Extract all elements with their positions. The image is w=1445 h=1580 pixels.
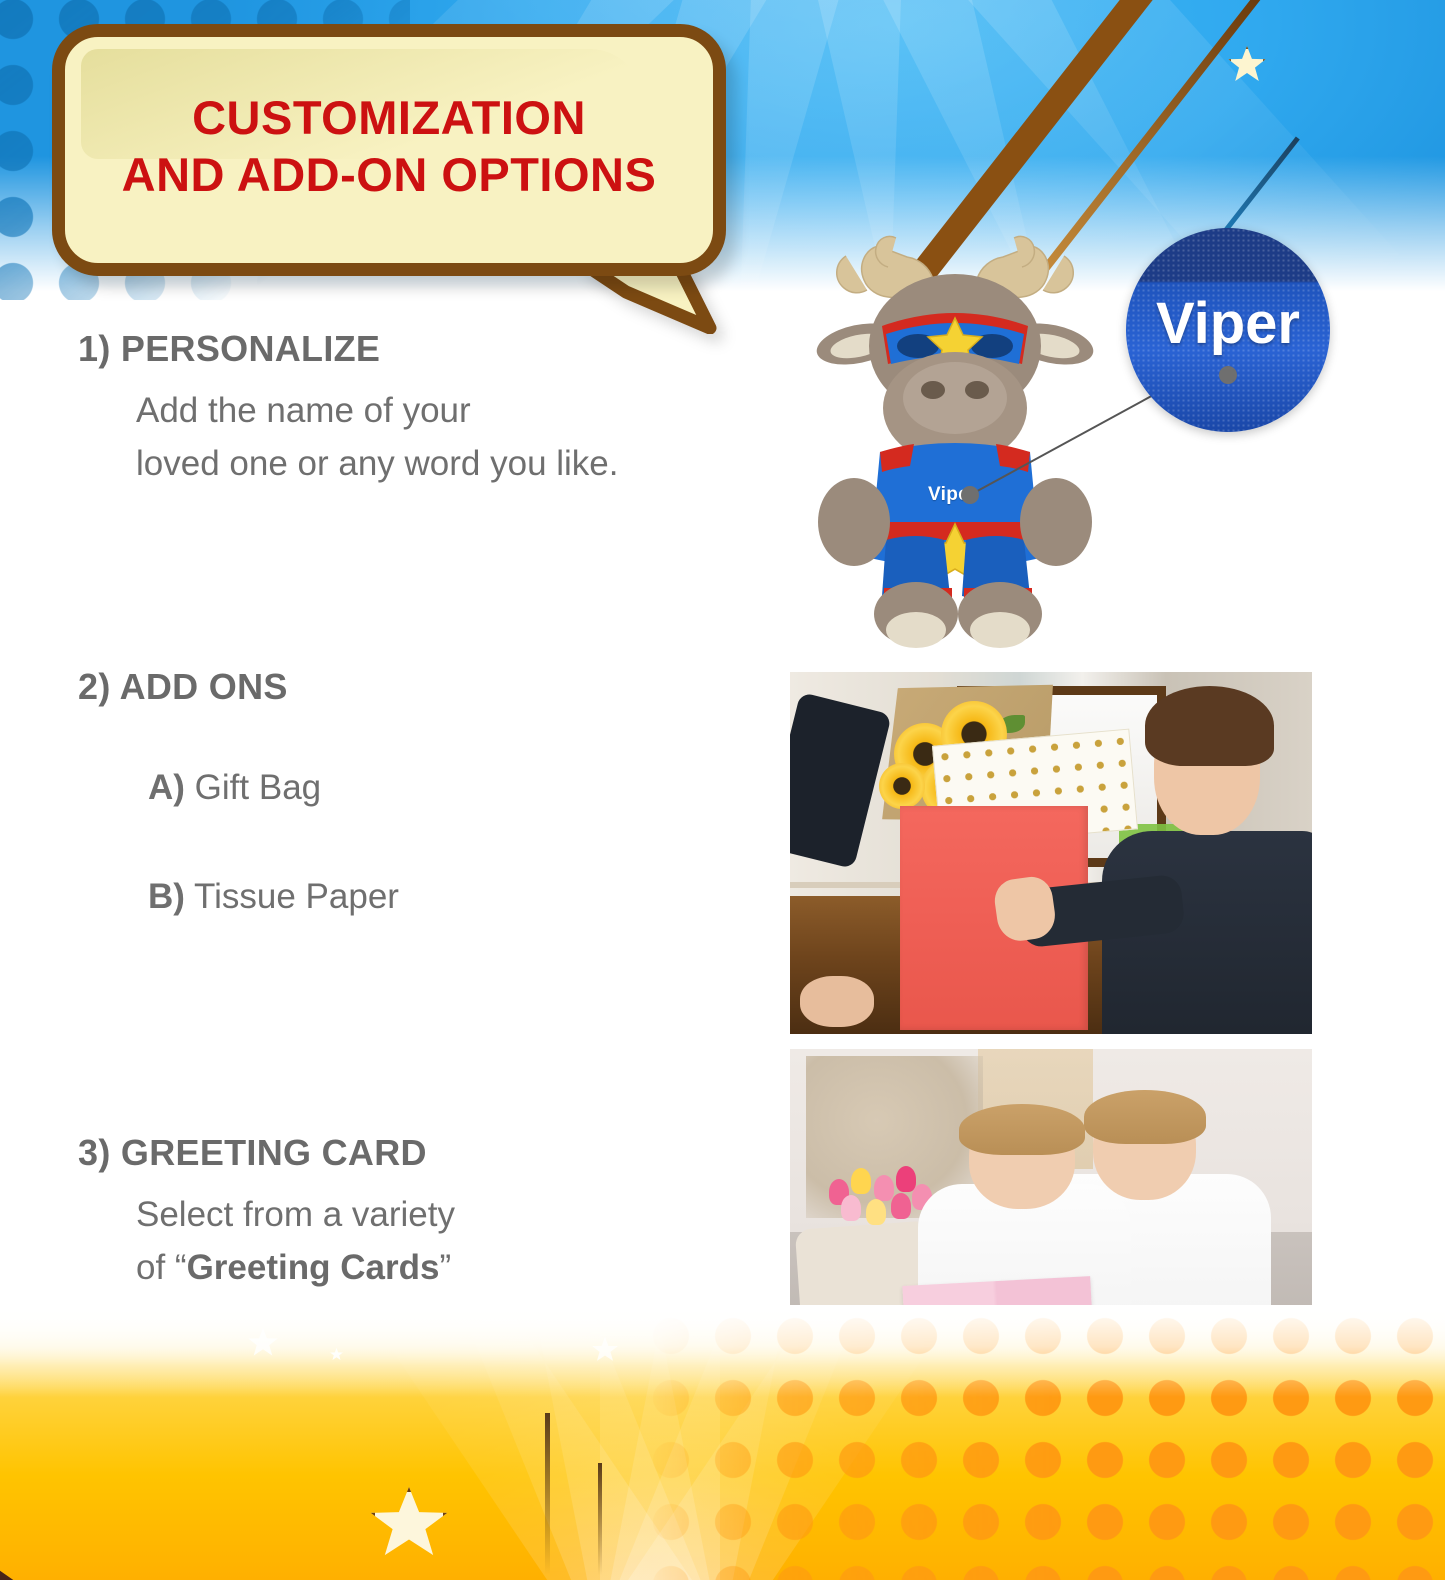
callout-anchor-dot	[1219, 366, 1237, 384]
step-greeting-card: 3) GREETING CARD Select from a variety o…	[78, 1132, 455, 1294]
callout-name-label: Viper	[1126, 290, 1330, 357]
page-title-line1: CUSTOMIZATION	[65, 89, 713, 146]
add-on-b-letter: B)	[148, 877, 185, 916]
speech-bubble-body: CUSTOMIZATION AND ADD-ON OPTIONS	[52, 24, 726, 276]
infographic-page: CUSTOMIZATION AND ADD-ON OPTIONS 1) PERS…	[0, 0, 1445, 1580]
gift-bag-photo	[790, 672, 1312, 1034]
step-2-title: 2) ADD ONS	[78, 666, 288, 708]
step-1-body-line2: loved one or any word you like.	[136, 437, 619, 490]
step-3-quoted-term: Greeting Cards	[187, 1248, 440, 1287]
page-title-line2: AND ADD-ON OPTIONS	[65, 146, 713, 203]
corner-ribbon-decoration	[0, 1360, 550, 1580]
add-on-item-b: B) Tissue Paper	[78, 877, 399, 917]
add-on-b-text: B) Tissue Paper	[148, 877, 399, 917]
step-3-body: Select from a variety of “Greeting Cards…	[136, 1188, 455, 1294]
step-3-body-line1: Select from a variety	[136, 1188, 455, 1241]
step-3-quote-close: ”	[439, 1248, 451, 1287]
add-on-a-text: A) Gift Bag	[148, 768, 321, 808]
add-on-a-label: Gift Bag	[195, 768, 321, 807]
step-1-body-line1: Add the name of your	[136, 384, 619, 437]
add-on-b-label: Tissue Paper	[194, 877, 399, 916]
step-1-body: Add the name of your loved one or any wo…	[136, 384, 619, 490]
add-on-a-letter: A)	[148, 768, 185, 807]
add-on-item-a: A) Gift Bag	[78, 768, 321, 808]
step-personalize: 1) PERSONALIZE Add the name of your love…	[78, 328, 619, 490]
step-add-ons: 2) ADD ONS	[78, 666, 288, 708]
page-title: CUSTOMIZATION AND ADD-ON OPTIONS	[65, 89, 713, 204]
step-3-title: 3) GREETING CARD	[78, 1132, 455, 1174]
step-3-body-line2: of “Greeting Cards”	[136, 1241, 455, 1294]
step-1-title: 1) PERSONALIZE	[78, 328, 619, 370]
step-3-quote-open: of “	[136, 1248, 187, 1287]
bottom-decorative-band	[0, 1305, 1445, 1580]
personalization-callout-circle: Viper	[1126, 228, 1330, 432]
title-speech-bubble: CUSTOMIZATION AND ADD-ON OPTIONS	[52, 24, 752, 314]
